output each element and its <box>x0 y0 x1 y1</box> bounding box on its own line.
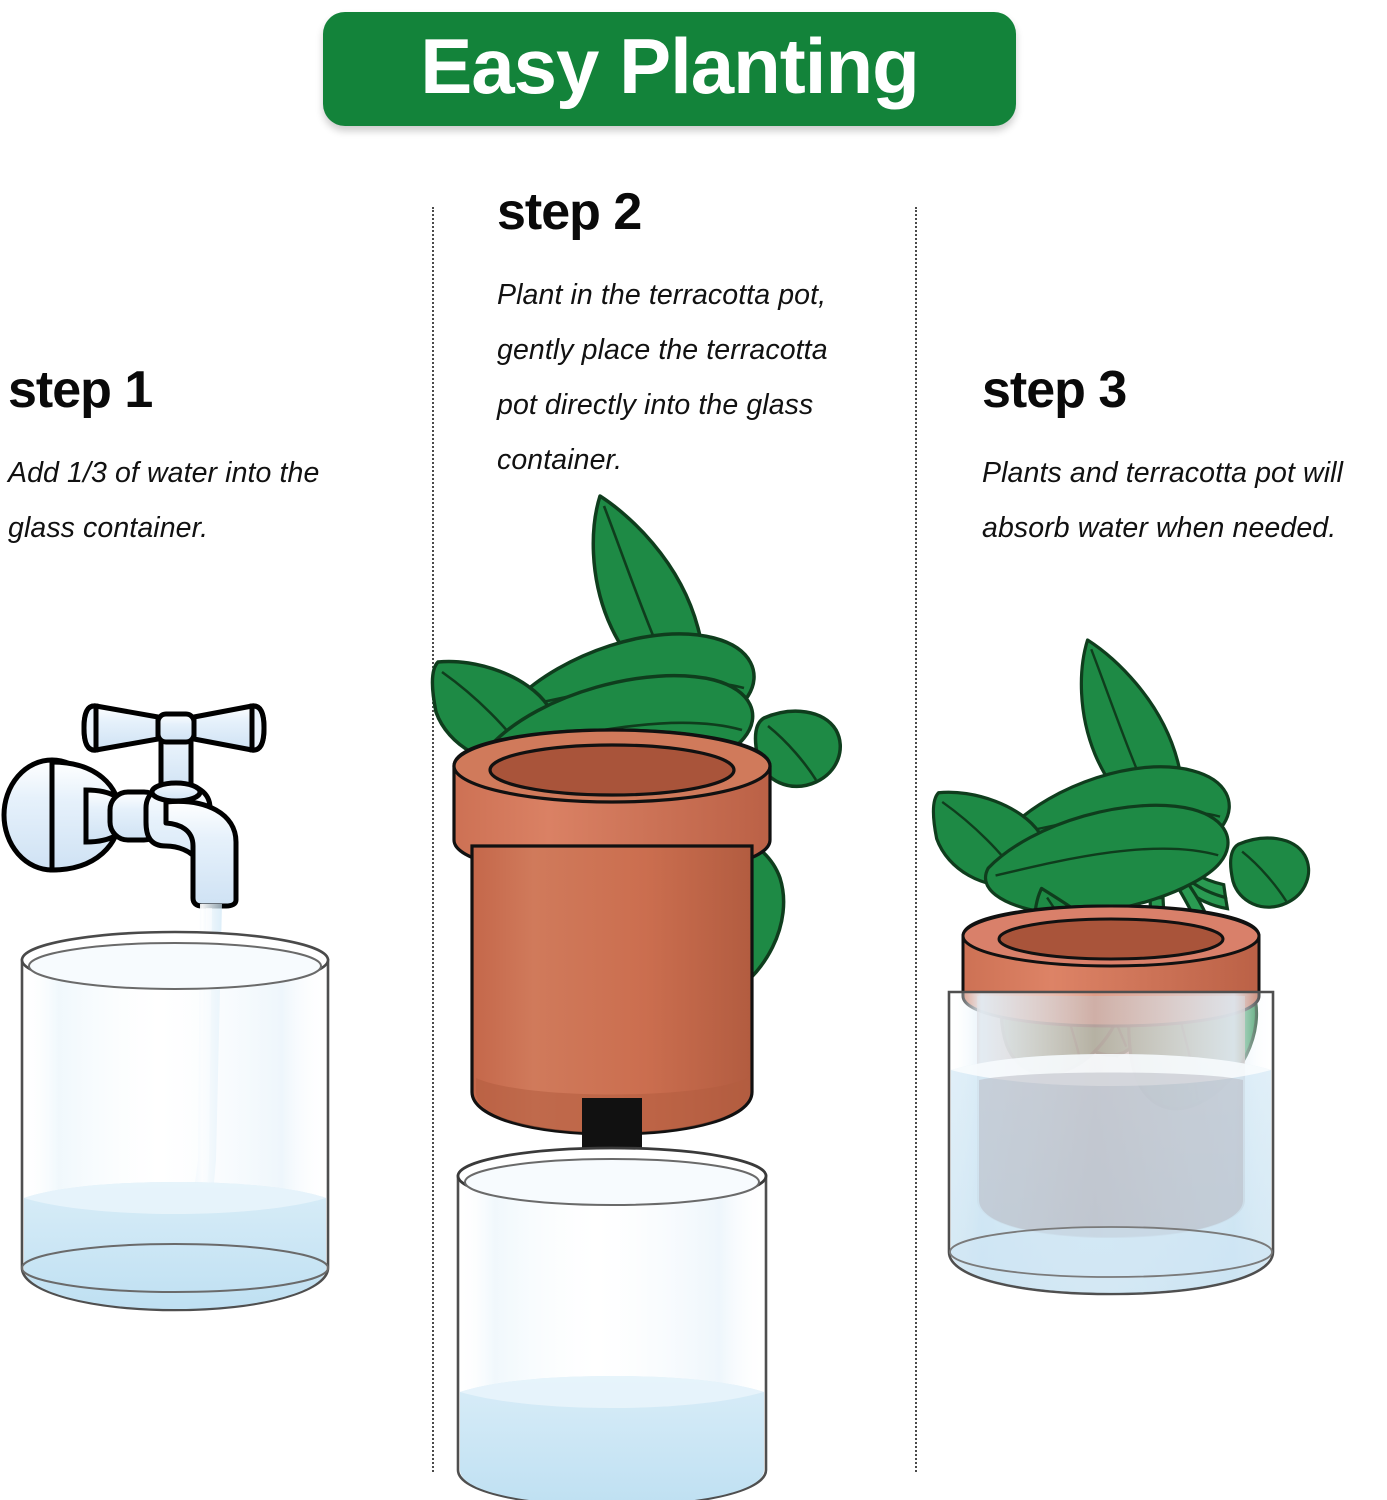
faucet-icon <box>4 706 264 906</box>
infographic-canvas: Easy Planting step 1 Add 1/3 of water in… <box>0 0 1387 1500</box>
glass-container-icon <box>949 992 1273 1294</box>
page-title: Easy Planting <box>420 27 919 105</box>
step-1-heading: step 1 <box>8 364 152 416</box>
step-1-illustration <box>0 690 430 1350</box>
step-3-body: Plants and terracotta pot will absorb wa… <box>982 446 1357 556</box>
step-3-illustration <box>915 640 1387 1330</box>
step-1-body: Add 1/3 of water into the glass containe… <box>8 446 378 556</box>
glass-container-icon <box>22 932 328 1310</box>
step-2-body: Plant in the terracotta pot, gently plac… <box>497 268 857 488</box>
step-2-illustration <box>432 480 915 1500</box>
step-2-heading: step 2 <box>497 186 641 238</box>
glass-container-icon <box>458 1148 766 1500</box>
title-banner: Easy Planting <box>323 12 1016 126</box>
step-3-heading: step 3 <box>982 364 1126 416</box>
terracotta-pot-icon <box>454 730 770 1134</box>
leaf-right-small <box>1231 838 1309 907</box>
